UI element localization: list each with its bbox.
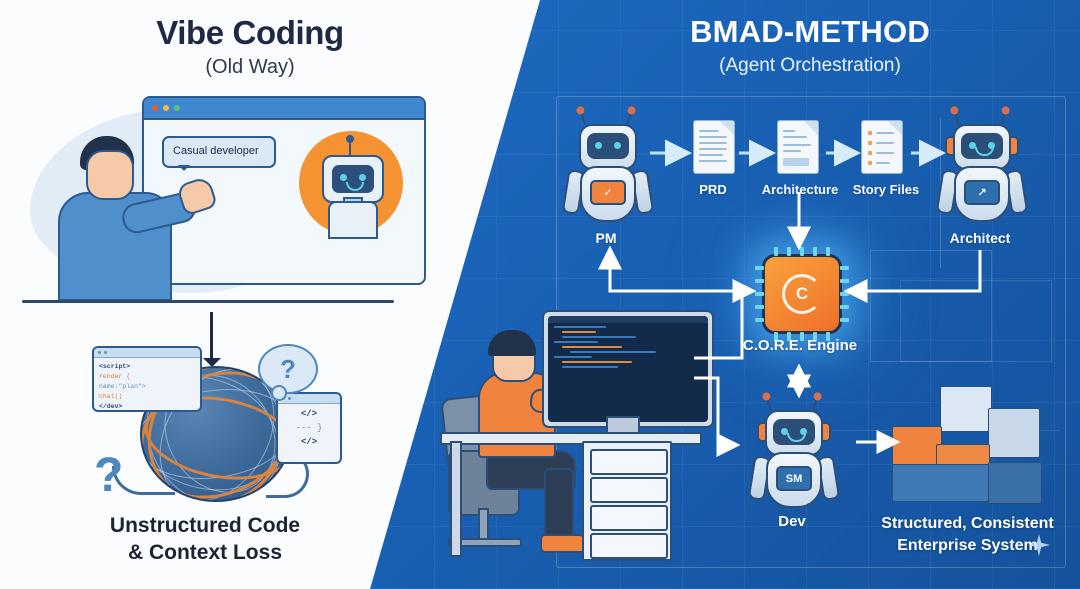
core-engine-chip[interactable]: C xyxy=(762,254,842,334)
enterprise-system-blocks xyxy=(892,386,1072,506)
chip-pins-right xyxy=(840,257,849,331)
agent-architect-label: Architect xyxy=(930,230,1030,246)
robot-eye-left-icon xyxy=(340,174,347,181)
blueprint-sketch-2 xyxy=(900,280,1052,362)
code-window-titlebar xyxy=(94,348,200,358)
person-hair xyxy=(488,330,536,356)
robot-eye-right-icon xyxy=(614,142,621,149)
code-window-left: <script> render { name:"plan"> chat() </… xyxy=(92,346,202,412)
block-light xyxy=(988,408,1040,458)
browser-titlebar xyxy=(144,98,424,120)
left-panel-caption: Unstructured Code & Context Loss xyxy=(0,512,410,567)
chip-pins-left xyxy=(755,257,764,331)
developer-person xyxy=(48,136,198,296)
chart-badge-icon: ↗ xyxy=(964,180,1000,205)
agent-architect-robot[interactable]: ↗ xyxy=(930,112,1030,224)
close-dot-icon xyxy=(152,105,158,111)
antenna-icon xyxy=(349,141,351,155)
monitor xyxy=(542,310,714,428)
robot-visor xyxy=(587,133,629,159)
checkmark-badge-icon: ✓ xyxy=(590,180,626,205)
agent-pm-robot[interactable]: ✓ xyxy=(556,112,656,224)
robot-face-screen xyxy=(332,165,374,193)
chip-glyph: C xyxy=(796,284,808,304)
chip-pins-top xyxy=(765,247,839,256)
code-line-3: </> xyxy=(283,436,335,450)
code-line-1: <script> xyxy=(99,362,195,372)
antenna-icon xyxy=(1000,112,1006,125)
casual-developer-illustration: Casual developer xyxy=(22,88,442,303)
code-line-3: name:"plan"> xyxy=(99,382,195,392)
robot-smile-icon xyxy=(975,147,994,156)
block-orange xyxy=(892,426,942,468)
robot-eye-right-icon xyxy=(359,174,366,181)
code-line-4: chat() xyxy=(99,392,195,402)
artifact-prd-document-icon[interactable] xyxy=(693,120,735,174)
robot-eye-left-icon xyxy=(595,142,602,149)
robot-smile-icon xyxy=(787,433,806,442)
antenna-icon xyxy=(954,112,960,125)
agent-pm-label: PM xyxy=(556,230,656,246)
desk-leg xyxy=(450,441,462,557)
code-line-2: render { xyxy=(99,372,195,382)
floor-line xyxy=(22,300,394,303)
output-caption-line-1: Structured, Consistent xyxy=(855,513,1080,535)
output-caption: Structured, Consistent Enterprise System xyxy=(855,513,1080,556)
robot-head xyxy=(953,124,1011,170)
left-caption-line-2: & Context Loss xyxy=(0,539,410,566)
code-window-body: <script> render { name:"plan"> chat() </… xyxy=(94,358,200,412)
downward-arrow-icon xyxy=(210,312,213,360)
artifact-prd-label: PRD xyxy=(673,182,753,197)
robot-head xyxy=(579,124,637,170)
developer-workstation-illustration xyxy=(430,300,700,560)
monitor-screen xyxy=(548,316,708,422)
block-blue xyxy=(892,464,990,502)
window-dot-icon xyxy=(98,351,101,354)
question-speech-bubble: ? xyxy=(258,344,318,394)
right-panel-subtitle: (Agent Orchestration) xyxy=(540,55,1080,77)
question-mark-large: ? xyxy=(94,448,123,503)
code-window-titlebar xyxy=(278,394,340,404)
code-window-body: </> --- } </> xyxy=(278,404,340,454)
window-dot-icon xyxy=(288,397,291,400)
artifact-story-files-document-icon[interactable] xyxy=(861,120,903,174)
person-shin xyxy=(544,468,574,544)
editor-titlebar xyxy=(548,316,708,323)
artifact-architecture-document-icon[interactable] xyxy=(777,120,819,174)
antenna-icon xyxy=(812,398,818,411)
block-blue xyxy=(988,462,1042,504)
window-dot-icon xyxy=(104,351,107,354)
robot-body xyxy=(328,201,378,239)
right-panel-title: BMAD-METHOD xyxy=(540,14,1080,50)
maximize-dot-icon xyxy=(174,105,180,111)
agent-dev-robot[interactable]: SM xyxy=(742,398,842,510)
antenna-icon xyxy=(580,112,586,125)
code-window-right: </> --- } </> xyxy=(276,392,342,464)
left-caption-line-1: Unstructured Code xyxy=(0,512,410,539)
artifact-architecture-label: Architecture xyxy=(750,182,850,197)
infographic-canvas: Vibe Coding (Old Way) Casual developer xyxy=(0,0,1080,589)
artifact-story-files-label: Story Files xyxy=(840,182,932,197)
antenna-icon xyxy=(626,112,632,125)
robot-head xyxy=(765,410,823,456)
robot-visor xyxy=(773,419,815,445)
antenna-icon xyxy=(766,398,772,411)
left-panel-subtitle: (Old Way) xyxy=(0,56,500,79)
scrum-master-badge: SM xyxy=(776,466,812,491)
code-line-5: </dev> xyxy=(99,402,195,412)
left-panel-title: Vibe Coding xyxy=(0,14,500,52)
robot-head xyxy=(322,155,384,203)
robot-smile-icon xyxy=(346,182,364,191)
agent-dev-label: Dev xyxy=(742,513,842,530)
code-line-1: </> xyxy=(283,408,335,422)
desk-drawers xyxy=(582,441,672,561)
person-shoe xyxy=(540,534,588,553)
person-face xyxy=(86,150,134,200)
robot-visor xyxy=(961,133,1003,159)
code-line-2: --- } xyxy=(283,422,335,436)
block-light xyxy=(940,386,992,432)
minimize-dot-icon xyxy=(163,105,169,111)
core-engine-label: C.O.R.E. Engine xyxy=(714,337,886,354)
chatbot-avatar xyxy=(299,131,403,235)
